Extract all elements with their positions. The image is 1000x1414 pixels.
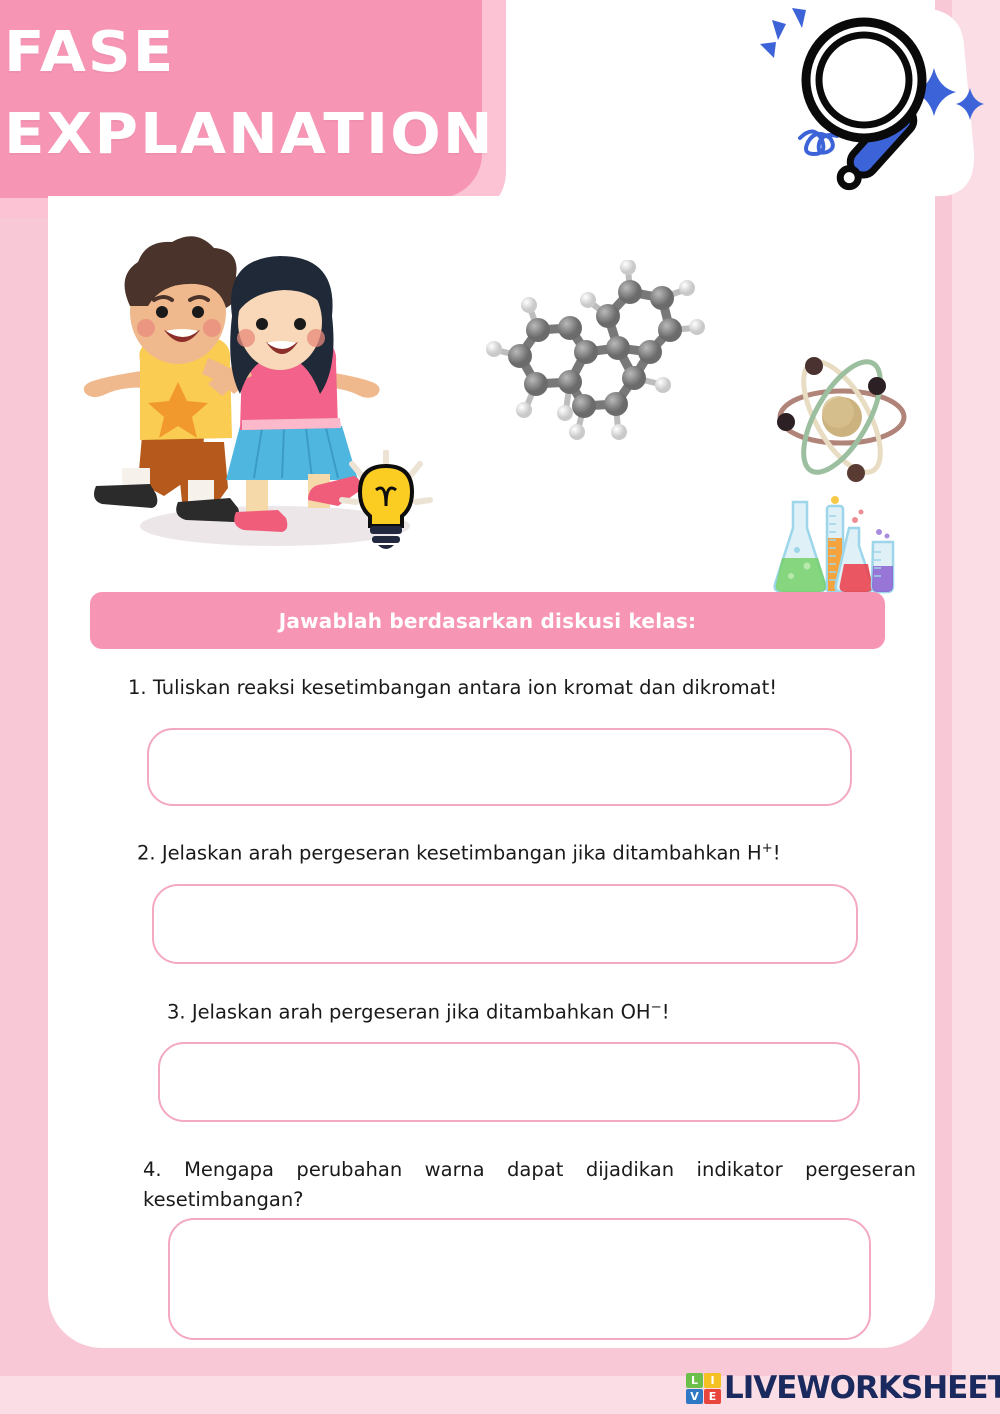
logo-tile-i: I [704,1373,721,1388]
question-1-number: 1. [128,676,147,699]
question-4-answer-box[interactable] [168,1218,871,1340]
question-3-label: Jelaskan arah pergeseran jika ditambahka… [192,1001,651,1024]
question-4-label: Mengapa perubahan warna dapat dijadikan … [143,1158,916,1211]
atom-orbit-icon [770,350,915,485]
question-3-label-end: ! [662,1001,670,1024]
question-2-superscript: + [762,841,773,856]
liveworksheets-logo-tiles: L I V E [686,1373,721,1404]
lab-flasks-and-beakers-icon [773,492,895,594]
question-1-answer-box[interactable] [147,728,852,806]
logo-tile-v: V [686,1389,703,1404]
question-2-text: 2. Jelaskan arah pergeseran kesetimbanga… [137,834,781,869]
question-3-number: 3. [167,1001,186,1024]
logo-tile-e: E [704,1389,721,1404]
phenanthrene-ball-and-stick-molecule [478,260,728,440]
magnifying-glass-icon [748,2,1000,202]
question-2-answer-box[interactable] [152,884,858,964]
question-2-label-end: ! [773,842,781,865]
lightbulb-icon [338,450,434,558]
question-4-text: 4. Mengapa perubahan warna dapat dijadik… [143,1155,916,1215]
liveworksheets-logo[interactable]: L I V E LIVEWORKSHEETS [686,1368,1000,1408]
liveworksheets-wordmark: LIVEWORKSHEETS [724,1370,1000,1406]
question-2-label: Jelaskan arah pergeseran kesetimbangan j… [162,842,762,865]
illustration-row [48,210,935,590]
question-3-text: 3. Jelaskan arah pergeseran jika ditamba… [167,993,670,1028]
page-title-line2: EXPLANATION [4,104,511,166]
question-1-label: Tuliskan reaksi kesetimbangan antara ion… [153,676,777,699]
instruction-banner-text: Jawablah berdasarkan diskusi kelas: [279,609,697,633]
question-3-answer-box[interactable] [158,1042,860,1122]
question-4-number: 4. [143,1158,162,1181]
question-2-number: 2. [137,842,156,865]
logo-tile-l: L [686,1373,703,1388]
instruction-banner: Jawablah berdasarkan diskusi kelas: [90,592,885,649]
page-title-line1: FASE [4,22,511,84]
question-3-superscript: − [651,1000,662,1015]
page-title-card: FASE EXPLANATION [0,0,482,198]
question-1-text: 1. Tuliskan reaksi kesetimbangan antara … [128,673,777,703]
